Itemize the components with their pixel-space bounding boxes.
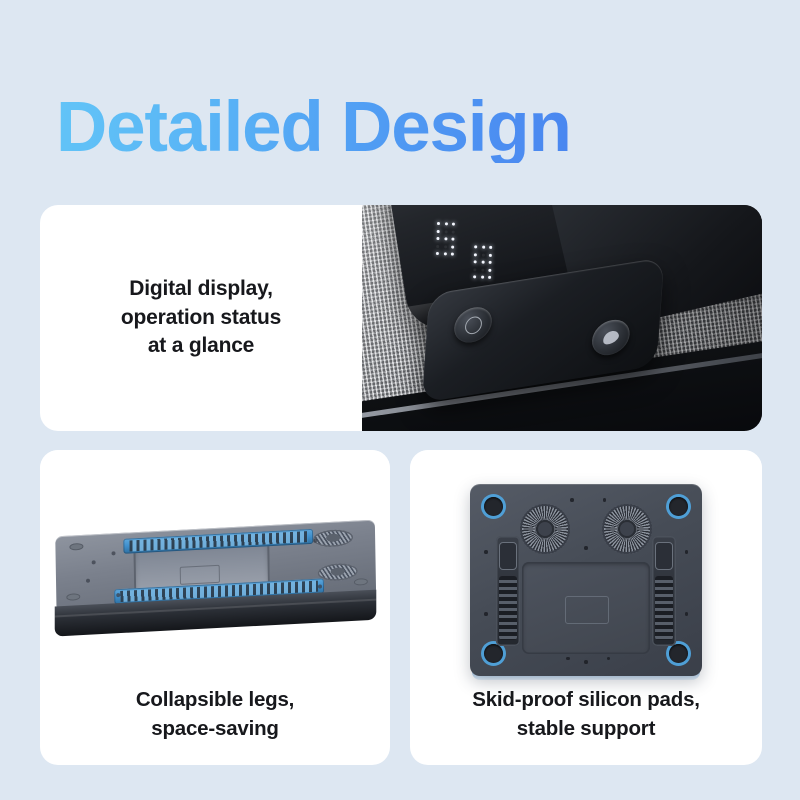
screw <box>111 551 115 555</box>
corner-pad <box>354 578 368 586</box>
screw <box>484 612 488 616</box>
feature-card-collapsible-legs: Collapsible legs, space-saving <box>40 450 390 765</box>
product-feature-page: Detailed Design Digital display, operati… <box>0 0 800 800</box>
led-display <box>435 222 495 281</box>
screw <box>566 657 570 661</box>
led-digit-5 <box>435 222 457 280</box>
silicon-pad-bottom-right <box>669 644 688 663</box>
fan-speed-button[interactable] <box>591 317 631 358</box>
silicon-pad-top-right <box>669 497 688 516</box>
caption-block: Digital display, operation status at a g… <box>40 205 362 431</box>
screw <box>86 579 90 583</box>
feature-caption: Skid-proof silicon pads, stable support <box>472 686 700 743</box>
feature-card-digital-display: Digital display, operation status at a g… <box>40 205 762 431</box>
folded-pad-photo <box>40 450 390 680</box>
power-button[interactable] <box>453 305 493 346</box>
screw <box>484 550 488 554</box>
control-panel-photo <box>362 205 762 431</box>
screw <box>685 612 689 616</box>
fan-grille-left <box>520 504 570 554</box>
screw <box>685 550 689 554</box>
screw <box>584 660 588 664</box>
silicon-pad-bottom-left <box>484 644 503 663</box>
caption-block: Skid-proof silicon pads, stable support <box>410 686 762 743</box>
feature-caption: Digital display, operation status at a g… <box>121 275 281 362</box>
screw <box>584 546 588 550</box>
feature-caption: Collapsible legs, space-saving <box>136 686 294 743</box>
fan-grille-lower <box>318 563 358 582</box>
page-title: Detailed Design <box>56 92 571 163</box>
caption-block: Collapsible legs, space-saving <box>40 686 390 743</box>
silicon-pad-top-left <box>484 497 503 516</box>
folding-leg-left <box>496 536 520 646</box>
screw <box>603 498 607 502</box>
folded-pad <box>55 520 377 649</box>
underside-photo <box>410 450 762 700</box>
center-recess <box>522 562 650 654</box>
feature-card-skid-proof-pads: Skid-proof silicon pads, stable support <box>410 450 762 765</box>
screw <box>607 657 611 661</box>
fan-grille-right <box>602 504 652 554</box>
led-digit-9 <box>473 245 494 281</box>
folding-leg-right <box>652 536 676 646</box>
corner-pad <box>66 593 80 601</box>
fan-icon <box>602 328 620 347</box>
fan-grille-upper <box>313 529 353 548</box>
pad-underside <box>470 484 702 676</box>
power-icon <box>464 315 482 335</box>
screw <box>570 498 574 502</box>
corner-pad <box>69 543 83 551</box>
screw <box>92 560 96 564</box>
